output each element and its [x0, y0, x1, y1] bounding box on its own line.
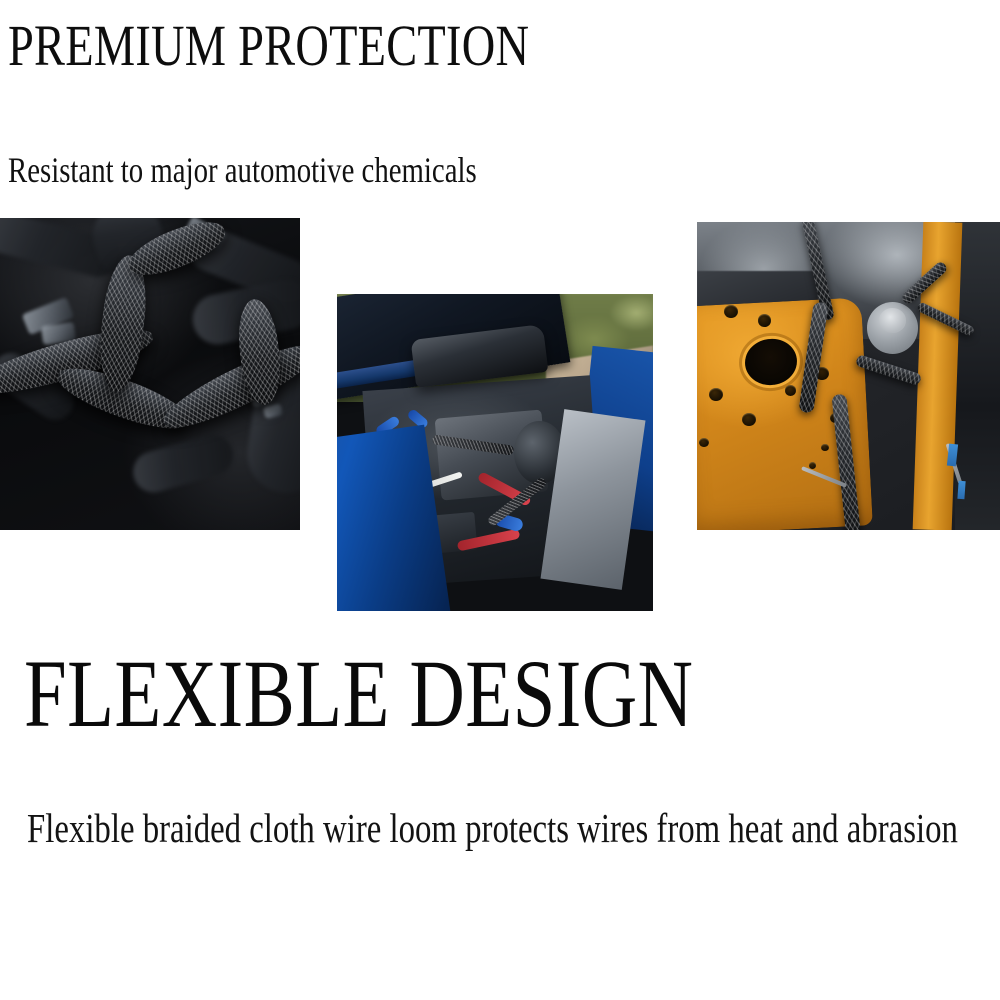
- blue-tape: [957, 480, 966, 499]
- gallery-image-blue-engine-bay: [337, 294, 653, 611]
- gallery-image-orange-engine-bay: [697, 222, 1000, 530]
- product-infographic: PREMIUM PROTECTION Resistant to major au…: [0, 0, 1000, 1000]
- body-copy-flexible-design: Flexible braided cloth wire loom protect…: [27, 789, 971, 868]
- canister-cap: [879, 308, 906, 333]
- bolt-hole: [724, 305, 738, 318]
- bolt-hole: [742, 413, 756, 426]
- page-title-premium-protection: PREMIUM PROTECTION: [8, 17, 529, 75]
- bolt-hole: [699, 438, 709, 448]
- bolt-hole: [709, 388, 723, 401]
- section-title-flexible-design: FLEXIBLE DESIGN: [24, 646, 693, 742]
- subtitle-chemical-resistance: Resistant to major automotive chemicals: [8, 152, 477, 188]
- gallery-image-braided-sleeving: [0, 218, 300, 530]
- bolt-hole: [785, 385, 796, 395]
